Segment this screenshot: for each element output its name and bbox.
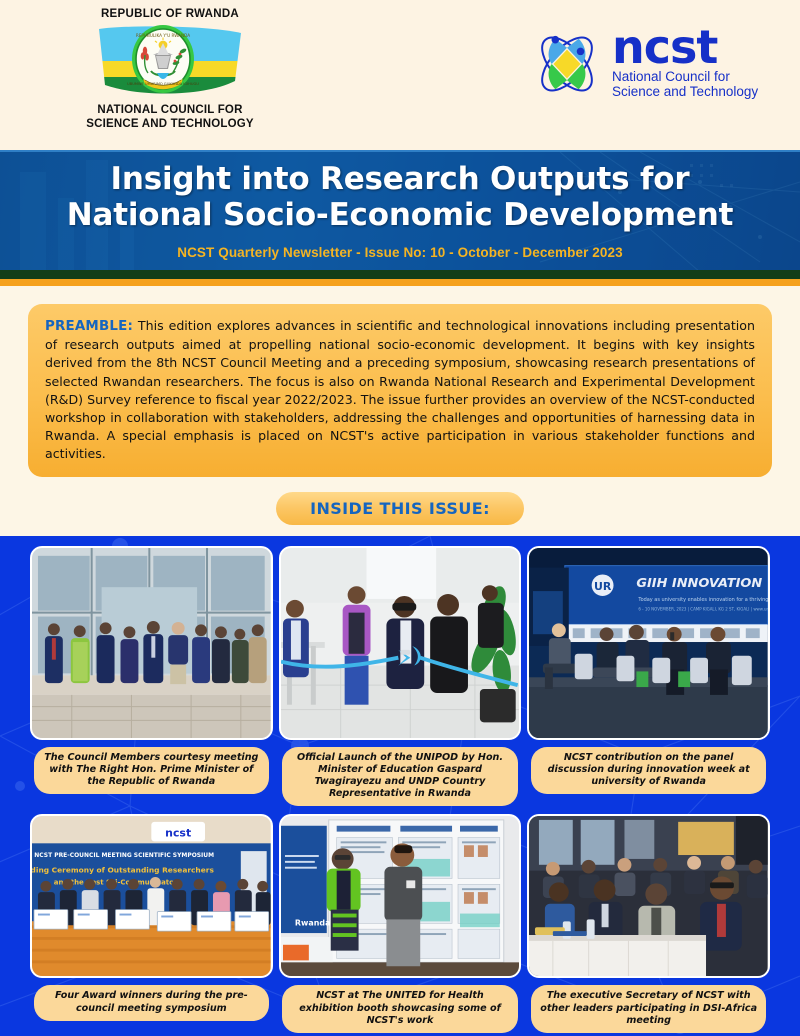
photo-frame[interactable] — [527, 814, 770, 978]
ncst-tagline-line-2: Science and Technology — [612, 84, 758, 99]
photo-united-for-health: Rwanda — [281, 816, 520, 976]
ncst-logo: ncst National Council for Science and Te… — [528, 28, 758, 100]
ncst-tagline-line-1: National Council for — [612, 69, 758, 84]
svg-text:GIIH INNOVATION W: GIIH INNOVATION W — [637, 576, 768, 591]
rwanda-flag-icon: REPUBULIKA Y'U RWANDA — [85, 23, 255, 101]
photo-panel-discussion: UR GIIH INNOVATION W Today as university… — [529, 548, 768, 738]
svg-text:REPUBULIKA Y'U RWANDA: REPUBULIKA Y'U RWANDA — [136, 33, 190, 38]
svg-text:Today as university enables in: Today as university enables innovation f… — [638, 597, 768, 603]
svg-text:Rwanda: Rwanda — [295, 919, 331, 928]
photo-caption: Official Launch of the UNIPOD by Hon. Mi… — [282, 747, 517, 806]
ncst-tagline: National Council for Science and Technol… — [612, 69, 758, 99]
flag-svg: REPUBULIKA Y'U RWANDA — [85, 23, 255, 101]
preamble-section: PREAMBLE: This edition explores advances… — [0, 286, 800, 477]
newsletter-cover-page: REPUBLIC OF RWANDA — [0, 0, 800, 1036]
svg-text:8th NCST PRE-COUNCIL MEETING S: 8th NCST PRE-COUNCIL MEETING SCIENTIFIC … — [32, 853, 214, 859]
gallery-row-2: ncst 8th NCST PRE-COUNCIL MEETING SCIENT… — [0, 814, 800, 1032]
preamble-label: PREAMBLE: — [45, 319, 133, 334]
org-line-2: SCIENCE AND TECHNOLOGY — [62, 117, 278, 131]
photo-dsi-africa — [529, 816, 768, 976]
svg-text:6 - 10 NOVEMBER, 2023 | CAMP: 6 - 10 NOVEMBER, 2023 | CAMP KIGALI, KG … — [639, 607, 768, 612]
photo-frame[interactable]: ncst 8th NCST PRE-COUNCIL MEETING SCIENT… — [30, 814, 273, 978]
svg-text:UR: UR — [594, 580, 612, 593]
preamble-text: This edition explores advances in scient… — [45, 318, 755, 461]
photo-frame[interactable] — [279, 546, 522, 740]
photo-council-members — [32, 548, 271, 738]
inside-this-issue-badge: INSIDE THIS ISSUE: — [276, 492, 524, 525]
svg-text:ncst: ncst — [165, 827, 191, 840]
inside-this-issue-row: INSIDE THIS ISSUE: — [0, 477, 800, 536]
gallery-item-council-members[interactable]: The Council Members courtesy meeting wit… — [30, 546, 273, 806]
photo-gallery: The Council Members courtesy meeting wit… — [0, 536, 800, 1036]
orange-divider-band — [0, 279, 800, 286]
photo-caption: Four Award winners during the pre-counci… — [34, 985, 269, 1020]
photo-unipod-launch — [281, 548, 520, 738]
photo-caption: NCST contribution on the panel discussio… — [531, 747, 766, 794]
gallery-item-award-winners[interactable]: ncst 8th NCST PRE-COUNCIL MEETING SCIENT… — [30, 814, 273, 1032]
title-line-2: National Socio-Economic Development — [67, 198, 733, 234]
gallery-item-unipod-launch[interactable]: Official Launch of the UNIPOD by Hon. Mi… — [279, 546, 522, 806]
title-banner: Insight into Research Outputs for Nation… — [0, 150, 800, 270]
green-divider-band — [0, 270, 800, 279]
photo-frame[interactable]: UR GIIH INNOVATION W Today as university… — [527, 546, 770, 740]
org-name: NATIONAL COUNCIL FOR SCIENCE AND TECHNOL… — [62, 103, 278, 131]
ncst-wordmark: ncst National Council for Science and Te… — [612, 29, 758, 100]
ncst-atom-icon — [528, 28, 606, 100]
photo-frame[interactable]: Rwanda — [279, 814, 522, 978]
preamble-box: PREAMBLE: This edition explores advances… — [28, 304, 772, 477]
issue-subtitle: NCST Quarterly Newsletter - Issue No: 10… — [177, 245, 623, 260]
title-line-1: Insight into Research Outputs for — [67, 162, 733, 198]
photo-caption: The Council Members courtesy meeting wit… — [34, 747, 269, 794]
photo-caption: NCST at The UNITED for Health exhibition… — [282, 985, 517, 1032]
republic-title: REPUBLIC OF RWANDA — [62, 8, 278, 20]
photo-frame[interactable] — [30, 546, 273, 740]
gallery-item-united-for-health[interactable]: Rwanda — [279, 814, 522, 1032]
photo-award-winners: ncst 8th NCST PRE-COUNCIL MEETING SCIENT… — [32, 816, 271, 976]
page-header: REPUBLIC OF RWANDA — [0, 0, 800, 150]
page-title: Insight into Research Outputs for Nation… — [67, 162, 733, 234]
gallery-item-panel-discussion[interactable]: UR GIIH INNOVATION W Today as university… — [527, 546, 770, 806]
svg-text:Awarding Ceremony of Outstandi: Awarding Ceremony of Outstanding Researc… — [32, 866, 214, 875]
ncst-name: ncst — [612, 29, 758, 67]
photo-caption: The executive Secretary of NCST with oth… — [531, 985, 766, 1032]
gallery-item-dsi-africa[interactable]: The executive Secretary of NCST with oth… — [527, 814, 770, 1032]
svg-text:UBUMWE UMURIMO GUKUNDA IGIHUGU: UBUMWE UMURIMO GUKUNDA IGIHUGU — [127, 82, 199, 86]
org-line-1: NATIONAL COUNCIL FOR — [62, 103, 278, 117]
republic-of-rwanda-logo: REPUBLIC OF RWANDA — [62, 8, 278, 131]
gallery-row-1: The Council Members courtesy meeting wit… — [0, 546, 800, 806]
